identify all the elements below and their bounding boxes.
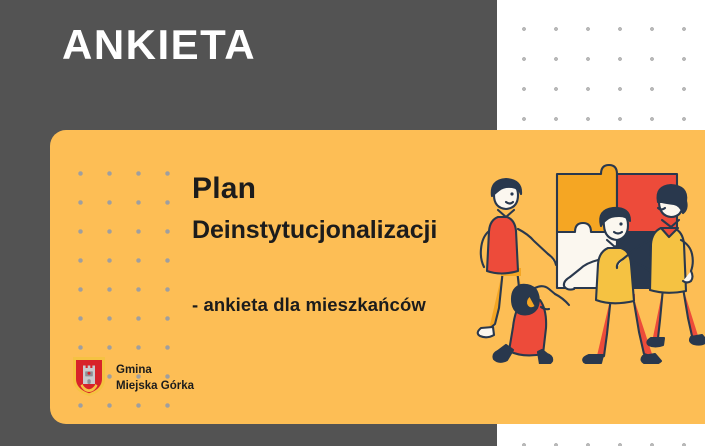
subheadline: - ankieta dla mieszkańców: [192, 294, 426, 316]
headline-line-2: Deinstytucjonalizacji: [192, 215, 512, 245]
municipality-logo-text: Gmina Miejska Górka: [116, 363, 194, 393]
headline-block: Plan Deinstytucjonalizacji: [192, 172, 512, 245]
people-assembling-jigsaw-puzzle-illustration: [465, 136, 705, 364]
poster-canvas: ANKIETA Plan Deinstytucjonalizacji - ank…: [0, 0, 705, 446]
headline-line-1: Plan: [192, 172, 512, 205]
municipality-logo-line-1: Gmina: [116, 364, 152, 376]
content-card: Plan Deinstytucjonalizacji - ankieta dla…: [50, 130, 705, 424]
dot-pattern-top-right: [508, 14, 705, 122]
municipality-logo: Gmina Miejska Górka: [71, 355, 194, 402]
page-title: ANKIETA: [62, 24, 256, 66]
coat-of-arms-shield-icon: [71, 355, 107, 402]
dot-pattern-bottom-right: [508, 430, 705, 446]
municipality-logo-line-2: Miejska Górka: [116, 380, 194, 392]
